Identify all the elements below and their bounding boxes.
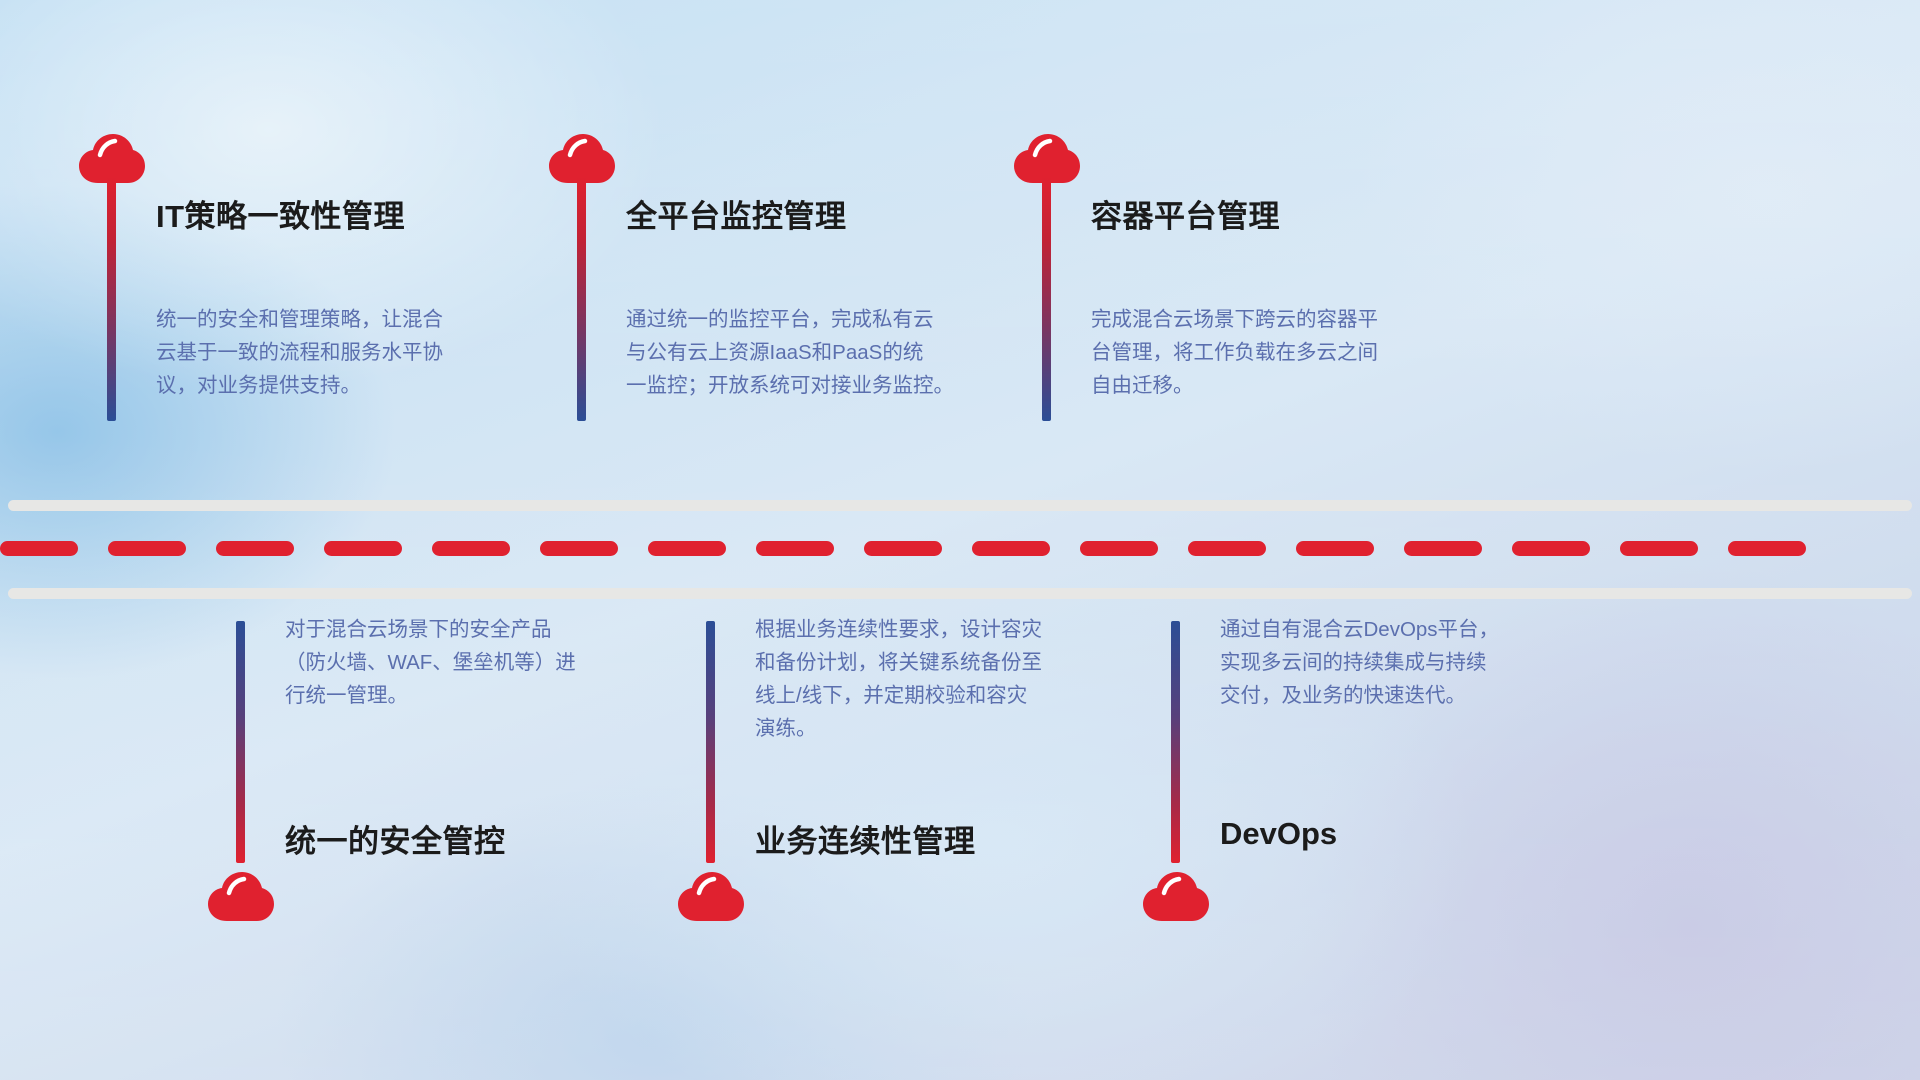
road-dash [1296, 541, 1374, 556]
feature-body: 完成混合云场景下跨云的容器平 台管理，将工作负载在多云之间 自由迁移。 [1091, 303, 1447, 402]
connector-stem [107, 177, 116, 421]
road-dash [324, 541, 402, 556]
cloud-icon [677, 871, 745, 923]
connector-stem [1042, 177, 1051, 421]
connector-stem [577, 177, 586, 421]
feature-title: 统一的安全管控 [285, 816, 506, 861]
road-dash [1188, 541, 1266, 556]
connector-stem [1171, 621, 1180, 863]
road-dash [108, 541, 186, 556]
feature-body: 通过自有混合云DevOps平台， 实现多云间的持续集成与持续 交付，及业务的快速… [1220, 613, 1576, 712]
feature-title: 业务连续性管理 [755, 816, 976, 861]
connector-stem [236, 621, 245, 863]
road-dash [216, 541, 294, 556]
feature-title: DevOps [1220, 816, 1337, 852]
feature-body: 统一的安全和管理策略，让混合 云基于一致的流程和服务水平协 议，对业务提供支持。 [156, 303, 512, 402]
feature-title: 容器平台管理 [1091, 191, 1280, 236]
road-dash [432, 541, 510, 556]
road-dash [972, 541, 1050, 556]
cloud-icon [207, 871, 275, 923]
road-dash [648, 541, 726, 556]
road-dash [864, 541, 942, 556]
road-dash [540, 541, 618, 556]
connector-stem [706, 621, 715, 863]
feature-title: IT策略一致性管理 [156, 191, 405, 236]
road-dash [756, 541, 834, 556]
road-dash [0, 541, 78, 556]
road-rail-top [8, 500, 1912, 511]
center-road-divider [0, 488, 1920, 608]
road-dash [1728, 541, 1806, 556]
road-rail-bottom [8, 588, 1912, 599]
road-dashed-centerline [0, 540, 1920, 556]
road-dash [1620, 541, 1698, 556]
feature-body: 通过统一的监控平台，完成私有云 与公有云上资源IaaS和PaaS的统 一监控；开… [626, 303, 982, 402]
cloud-icon [1142, 871, 1210, 923]
road-dash [1512, 541, 1590, 556]
road-dash [1080, 541, 1158, 556]
feature-body: 根据业务连续性要求，设计容灾 和备份计划，将关键系统备份至 线上/线下，并定期校… [755, 613, 1111, 745]
feature-title: 全平台监控管理 [626, 191, 847, 236]
feature-body: 对于混合云场景下的安全产品 （防火墙、WAF、堡垒机等）进 行统一管理。 [285, 613, 641, 712]
road-dash [1404, 541, 1482, 556]
